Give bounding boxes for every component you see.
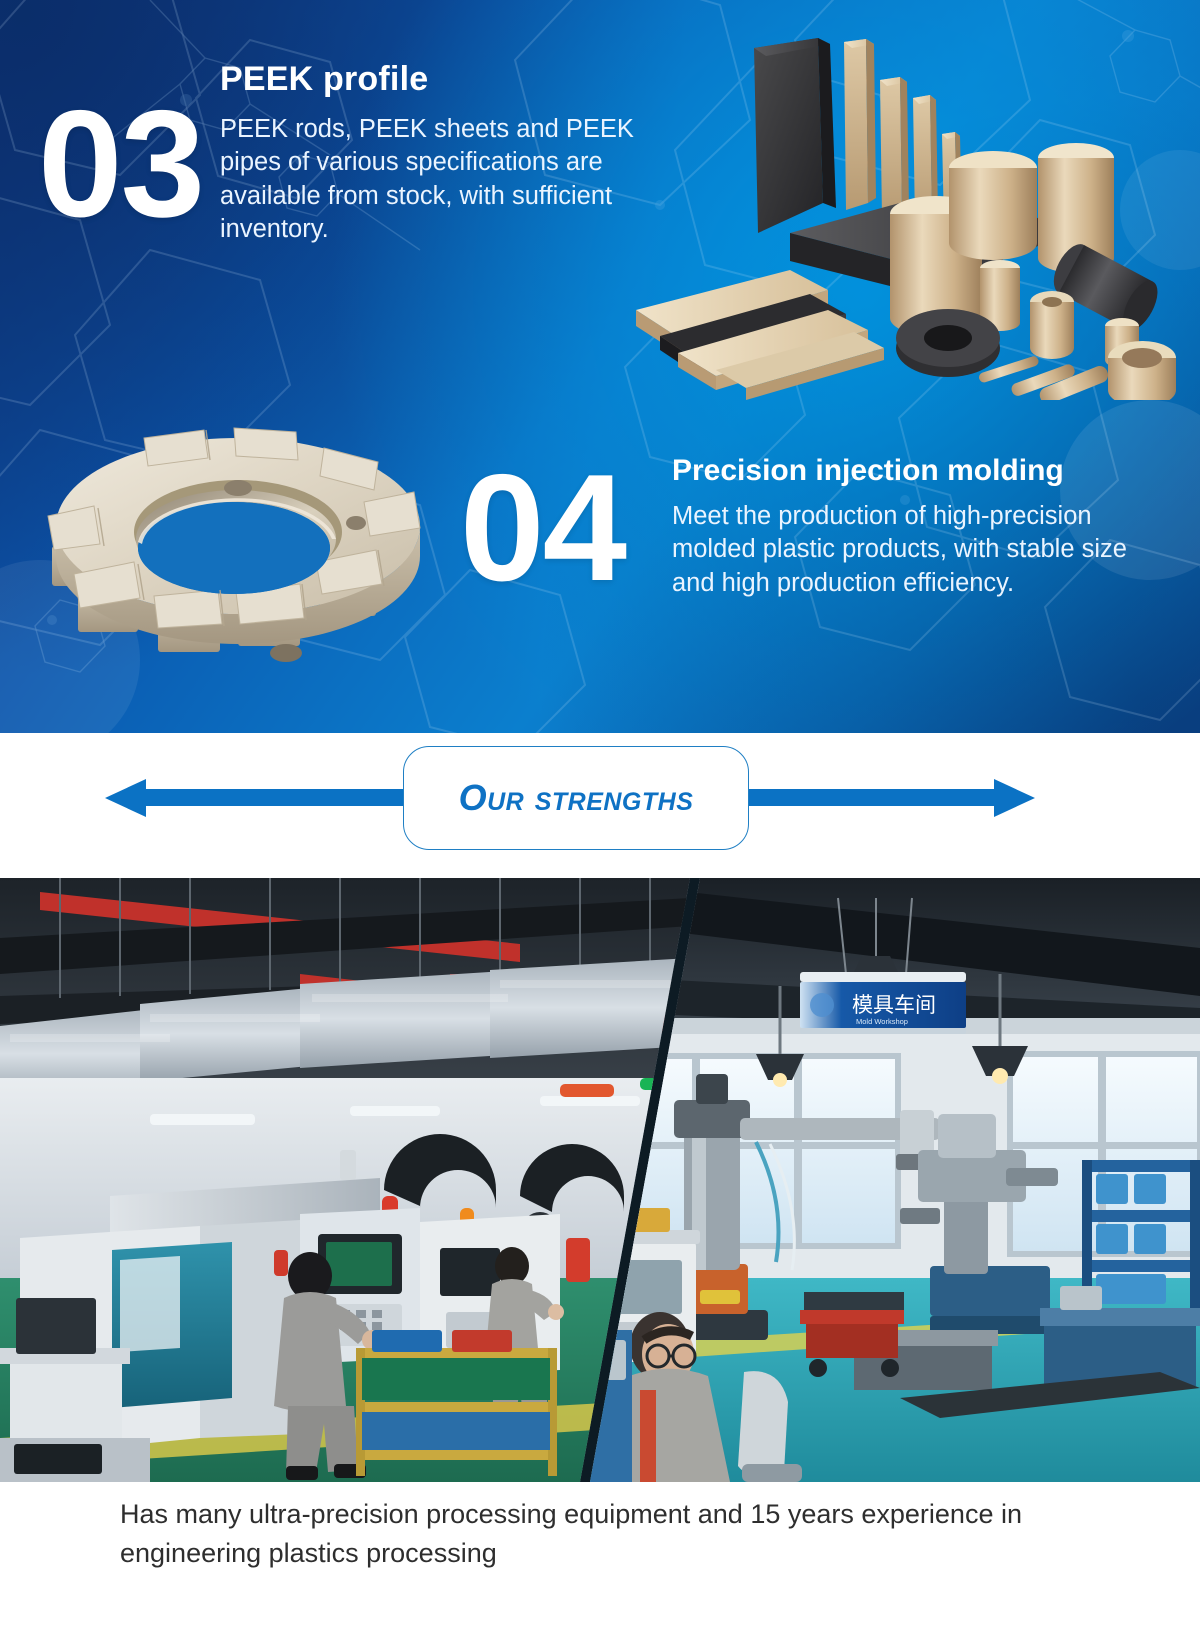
strengths-title-label: Our strengths: [459, 777, 694, 819]
feature-number-03: 03: [38, 96, 203, 233]
feature-body-03: PEEK rods, PEEK sheets and PEEK pipes of…: [220, 113, 650, 247]
feature-body-04: Meet the production of high-precision mo…: [672, 500, 1152, 600]
feature-text-03: PEEK profile PEEK rods, PEEK sheets and …: [220, 60, 650, 247]
feature-title-04: Precision injection molding: [672, 454, 1152, 488]
feature-block-03: 03 PEEK profile PEEK rods, PEEK sheets a…: [0, 60, 660, 350]
feature-text-04: Precision injection molding Meet the pro…: [672, 454, 1152, 600]
bottom-caption: Has many ultra-precision processing equi…: [0, 1495, 1200, 1573]
feature-block-04: 04 Precision injection molding Meet the …: [440, 440, 1160, 680]
svg-text:模具车间: 模具车间: [852, 993, 936, 1017]
left-workshop-photo: [0, 878, 690, 1482]
feature-title-03: PEEK profile: [220, 60, 650, 99]
svg-text:Mold Workshop: Mold Workshop: [856, 1017, 908, 1026]
product-feature-page: 03 PEEK profile PEEK rods, PEEK sheets a…: [0, 0, 1200, 1628]
hero-blue-panel: 03 PEEK profile PEEK rods, PEEK sheets a…: [0, 0, 1200, 733]
strengths-title-pill: Our strengths: [403, 746, 749, 850]
workshop-photo-strip: 模具车间 Mold Workshop: [0, 878, 1200, 1482]
feature-number-04: 04: [460, 460, 625, 597]
peek-profile-products-photo: [618, 18, 1200, 400]
peek-gear-ring-photo: [38, 398, 438, 680]
